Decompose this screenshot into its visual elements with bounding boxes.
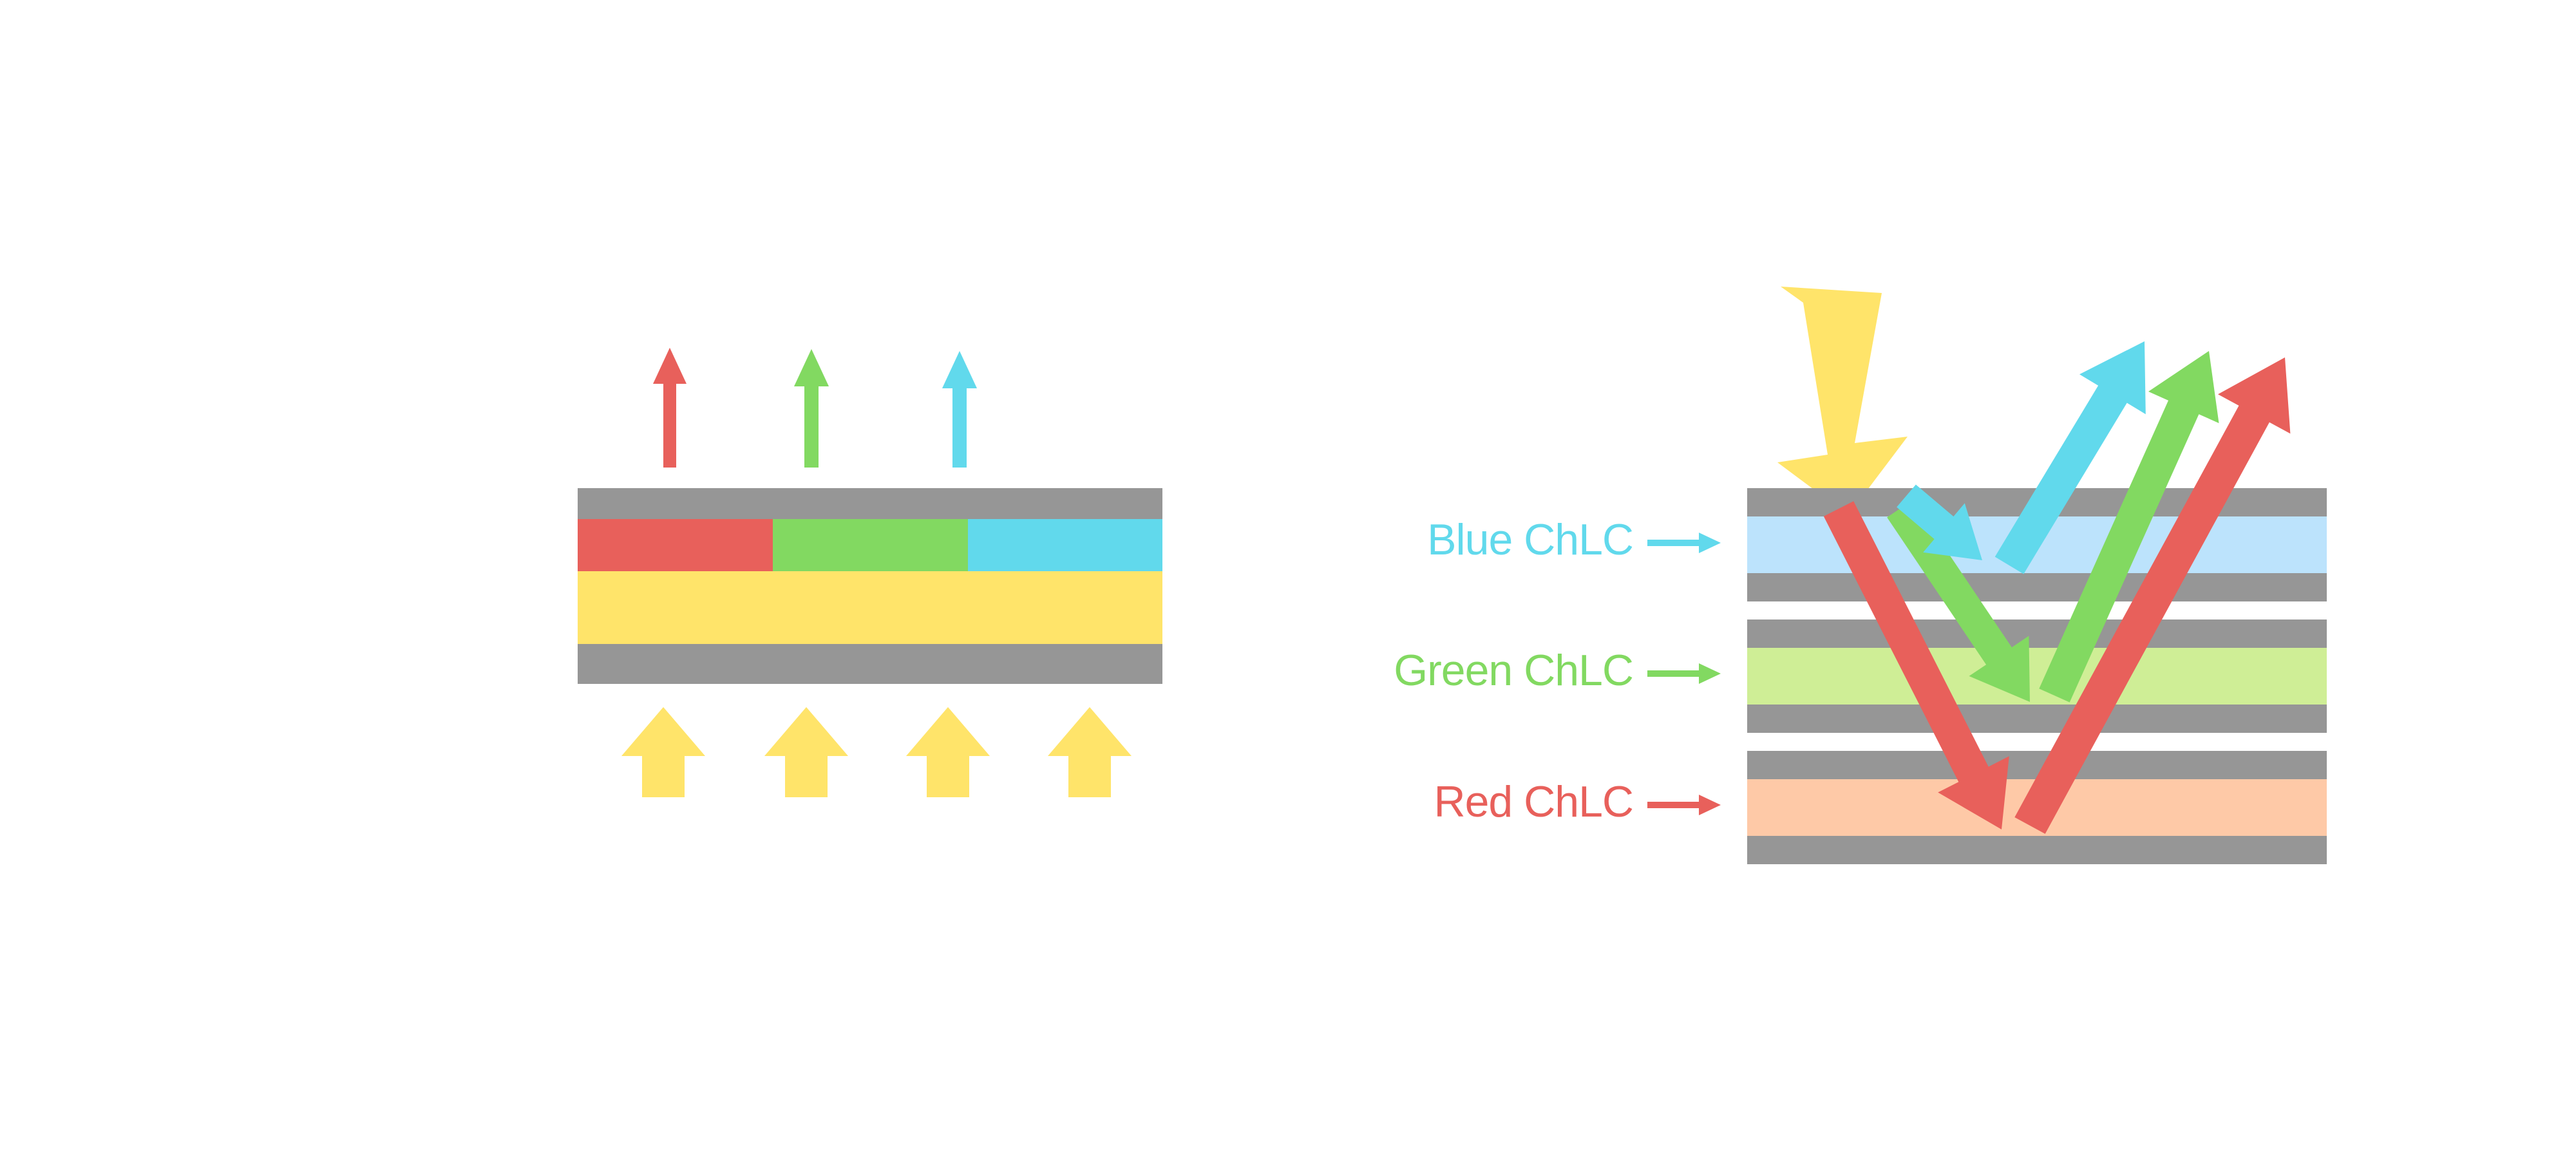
- blue-chlc-label: Blue ChLC: [1427, 515, 1633, 564]
- bottom-electrode: [578, 644, 1162, 684]
- red-chlc-label-group: Red ChLC: [1434, 777, 1721, 826]
- right-panel: Blue ChLC Green ChLC Red ChLC: [1394, 287, 2327, 864]
- green-chlc-layer: [1747, 648, 2327, 705]
- backlight-arrow-3: [906, 707, 990, 797]
- green-cell-top-electrode: [1747, 620, 2327, 648]
- backlight-arrow-4: [1048, 707, 1132, 797]
- left-emitted-arrows: [653, 348, 977, 468]
- backlight-arrow-1: [621, 707, 705, 797]
- ambient-light-arrow: [1777, 287, 1908, 515]
- blue-filter: [968, 519, 1162, 571]
- blue-chlc-label-arrow-icon: [1647, 533, 1721, 553]
- emitted-red-arrow: [653, 348, 687, 468]
- top-electrode: [578, 488, 1162, 519]
- red-filter: [578, 519, 773, 571]
- blue-chlc-label-group: Blue ChLC: [1427, 515, 1721, 564]
- cell-labels: Blue ChLC Green ChLC Red ChLC: [1394, 515, 1721, 826]
- emitted-blue-arrow: [942, 351, 977, 468]
- left-backlight-arrows: [621, 707, 1132, 797]
- backlight-arrow-2: [764, 707, 848, 797]
- green-chlc-label: Green ChLC: [1394, 646, 1633, 695]
- backlight-layer: [578, 571, 1162, 644]
- green-chlc-label-arrow-icon: [1647, 663, 1721, 684]
- diagram-root: Blue ChLC Green ChLC Red ChLC: [0, 0, 2576, 1154]
- green-filter: [773, 519, 968, 571]
- red-cell-top-electrode: [1747, 751, 2327, 779]
- red-chlc-label-arrow-icon: [1647, 795, 1721, 815]
- red-chlc-label: Red ChLC: [1434, 777, 1634, 826]
- left-panel: [578, 348, 1162, 797]
- red-cell-bottom-electrode: [1747, 836, 2327, 864]
- diagram-canvas: Blue ChLC Green ChLC Red ChLC: [0, 0, 2576, 1154]
- left-layer-stack: [578, 488, 1162, 684]
- emitted-green-arrow: [794, 349, 829, 468]
- green-cell-bottom-electrode: [1747, 705, 2327, 733]
- green-chlc-label-group: Green ChLC: [1394, 646, 1721, 695]
- blue-cell-bottom-electrode: [1747, 573, 2327, 601]
